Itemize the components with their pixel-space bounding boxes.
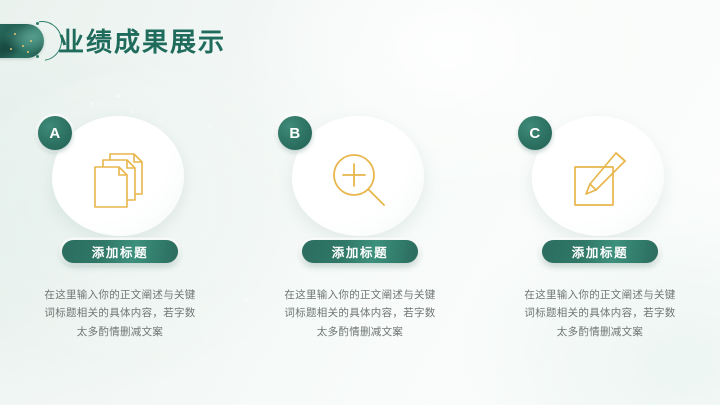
cards-row: A 添加标题 在这里输入你的正文阐述与关键词标题相关的具体内容，若字数太多酌情删… <box>0 112 720 341</box>
slide-header: 业绩成果展示 <box>0 18 226 62</box>
card-b-title-button[interactable]: 添加标题 <box>302 240 418 263</box>
edit-pencil-icon <box>554 142 644 218</box>
card-a[interactable]: A 添加标题 在这里输入你的正文阐述与关键词标题相关的具体内容，若字数太多酌情删… <box>0 112 240 341</box>
card-b-visual: B <box>270 112 450 252</box>
page-title: 业绩成果展示 <box>58 22 226 59</box>
card-c[interactable]: C 添加标题 在这里输入你的正文阐述与关键词标题相关的具体内容，若字数太多酌情删… <box>480 112 720 341</box>
card-c-visual: C <box>510 112 690 252</box>
card-a-visual: A <box>30 112 210 252</box>
card-a-title-button[interactable]: 添加标题 <box>62 240 178 263</box>
card-c-title-button[interactable]: 添加标题 <box>542 240 658 263</box>
card-c-body-text: 在这里输入你的正文阐述与关键词标题相关的具体内容，若字数太多酌情删减文案 <box>520 286 680 341</box>
card-b-body-text: 在这里输入你的正文阐述与关键词标题相关的具体内容，若字数太多酌情删减文案 <box>280 286 440 341</box>
card-b-badge: B <box>278 116 312 150</box>
header-decoration-icon <box>0 20 58 60</box>
magnifier-plus-icon <box>314 142 404 218</box>
documents-icon <box>74 142 164 218</box>
slide-canvas: 业绩成果展示 A 添加标题 在这里输 <box>0 0 720 405</box>
card-b[interactable]: B 添加标题 在这里输入你的正文阐述与关键词标题相关的具体内容，若字数太多酌情删… <box>240 112 480 341</box>
card-a-body-text: 在这里输入你的正文阐述与关键词标题相关的具体内容，若字数太多酌情删减文案 <box>40 286 200 341</box>
card-a-badge: A <box>38 116 72 150</box>
card-c-badge: C <box>518 116 552 150</box>
